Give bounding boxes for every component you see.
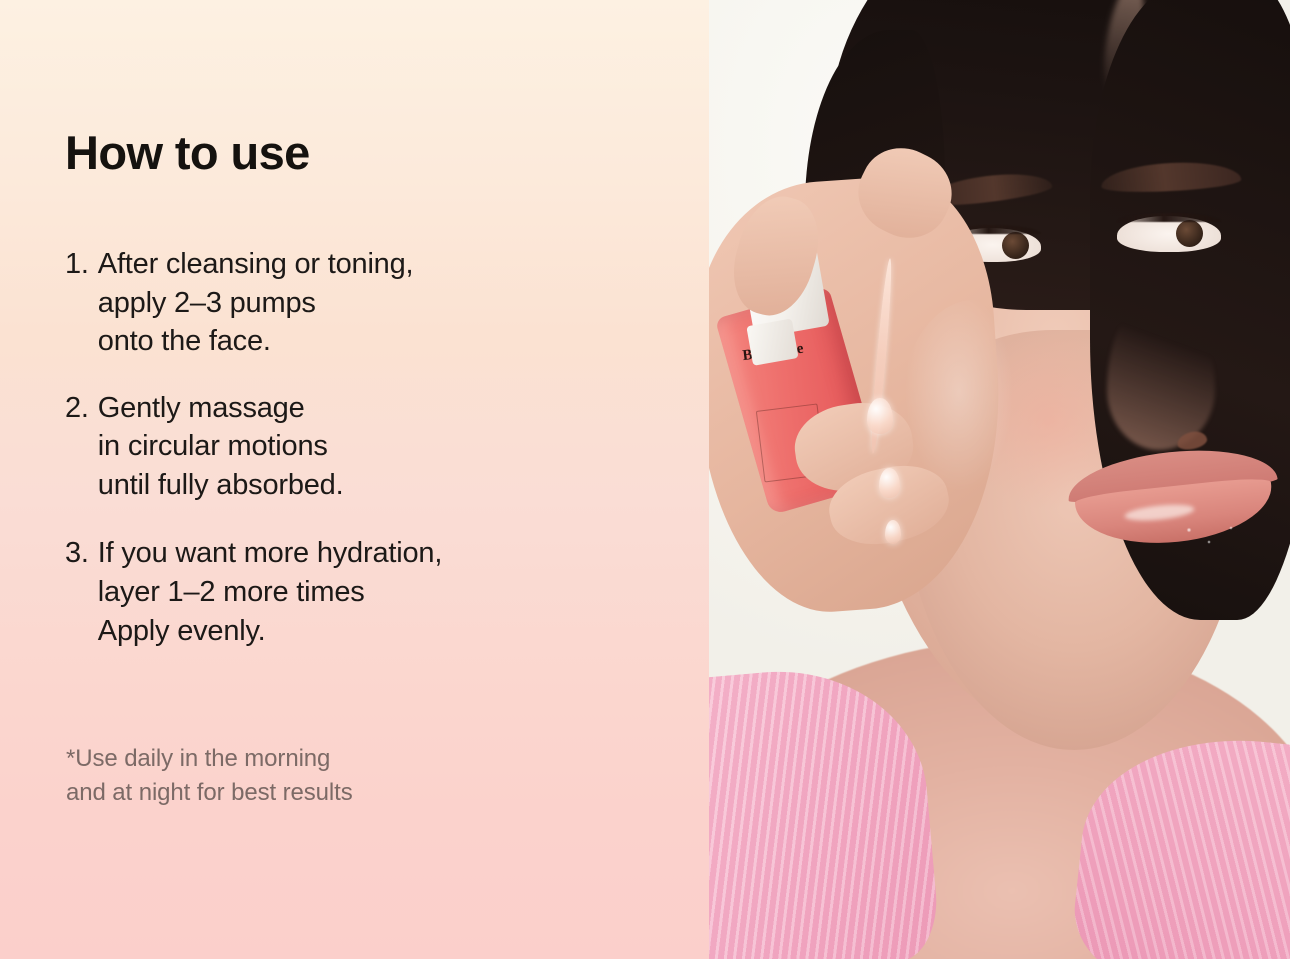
step-line: Apply evenly. [98, 615, 266, 647]
step-line: until fully absorbed. [98, 469, 344, 501]
serum-droplet [885, 520, 901, 544]
page-title: How to use [65, 129, 310, 176]
serum-droplet [879, 468, 900, 498]
footnote-line: *Use daily in the morning [66, 742, 353, 776]
step-number: 3. [65, 534, 98, 650]
usage-footnote: *Use daily in the morning and at night f… [66, 742, 353, 810]
step-number: 1. [65, 245, 98, 361]
serum-droplet [867, 398, 893, 434]
footnote-line: and at night for best results [66, 776, 353, 810]
step-line: onto the face. [98, 325, 271, 357]
instructions-panel: How to use 1. After cleansing or toning,… [0, 0, 709, 959]
list-item: 3. If you want more hydration, layer 1–2… [65, 534, 665, 650]
skin-sheen [899, 300, 1049, 530]
iris [1176, 220, 1203, 247]
steps-list: 1. After cleansing or toning, apply 2–3 … [65, 245, 665, 650]
nose [1107, 300, 1215, 450]
product-photo: Biodance [709, 0, 1290, 959]
step-text: Gently massage in circular motions until… [98, 389, 665, 505]
list-item: 1. After cleansing or toning, apply 2–3 … [65, 245, 665, 361]
iris [1002, 232, 1029, 259]
serum-droplets-lip [1179, 520, 1249, 560]
step-line: in circular motions [98, 430, 328, 462]
step-text: If you want more hydration, layer 1–2 mo… [98, 534, 665, 650]
step-text: After cleansing or toning, apply 2–3 pum… [98, 245, 665, 361]
step-line: Gently massage [98, 392, 305, 424]
step-line: After cleansing or toning, [98, 248, 414, 280]
infographic-stage: How to use 1. After cleansing or toning,… [0, 0, 1290, 959]
list-item: 2. Gently massage in circular motions un… [65, 389, 665, 505]
step-line: apply 2–3 pumps [98, 287, 316, 319]
bottle-pump-neck [746, 318, 798, 365]
eye-right [1117, 216, 1221, 252]
step-line: layer 1–2 more times [98, 576, 365, 608]
step-number: 2. [65, 389, 98, 505]
step-line: If you want more hydration, [98, 537, 442, 569]
